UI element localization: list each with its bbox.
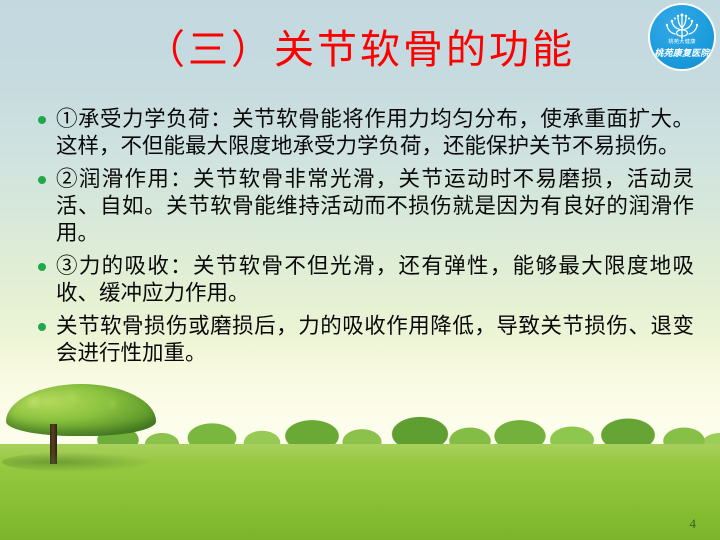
treeline bbox=[0, 410, 720, 454]
tree-canopy bbox=[6, 384, 156, 436]
big-tree-icon bbox=[6, 384, 156, 462]
list-item: ③力的吸收：关节软骨不但光滑，还有弹性，能够最大限度地吸收、缓冲应力作用。 bbox=[34, 253, 694, 307]
list-item: 关节软骨损伤或磨损后，力的吸收作用降低，导致关节损伤、退变会进行性加重。 bbox=[34, 313, 694, 367]
list-item: ②润滑作用：关节软骨非常光滑，关节运动时不易磨损，活动灵活、自如。关节软骨能维持… bbox=[34, 166, 694, 247]
bullet-text: 关节软骨损伤或磨损后，力的吸收作用降低，导致关节损伤、退变会进行性加重。 bbox=[56, 313, 694, 367]
list-item: ①承受力学负荷：关节软骨能将作用力均匀分布，使承重面扩大。这样，不但能最大限度地… bbox=[34, 106, 694, 160]
slide-title: （三）关节软骨的功能 bbox=[0, 26, 720, 74]
bullet-list: ①承受力学负荷：关节软骨能将作用力均匀分布，使承重面扩大。这样，不但能最大限度地… bbox=[34, 106, 694, 373]
page-number: 4 bbox=[690, 516, 697, 532]
grass-field bbox=[0, 444, 720, 540]
presentation-slide: 桃苑大健康 桃苑康复医院 （三）关节软骨的功能 ①承受力学负荷：关节软骨能将作用… bbox=[0, 0, 720, 540]
bullet-text: ③力的吸收：关节软骨不但光滑，还有弹性，能够最大限度地吸收、缓冲应力作用。 bbox=[56, 253, 694, 307]
tree-shadow bbox=[2, 452, 152, 472]
bullet-text: ①承受力学负荷：关节软骨能将作用力均匀分布，使承重面扩大。这样，不但能最大限度地… bbox=[56, 106, 694, 160]
bullet-text: ②润滑作用：关节软骨非常光滑，关节运动时不易磨损，活动灵活、自如。关节软骨能维持… bbox=[56, 166, 694, 247]
tree-trunk bbox=[50, 424, 57, 464]
